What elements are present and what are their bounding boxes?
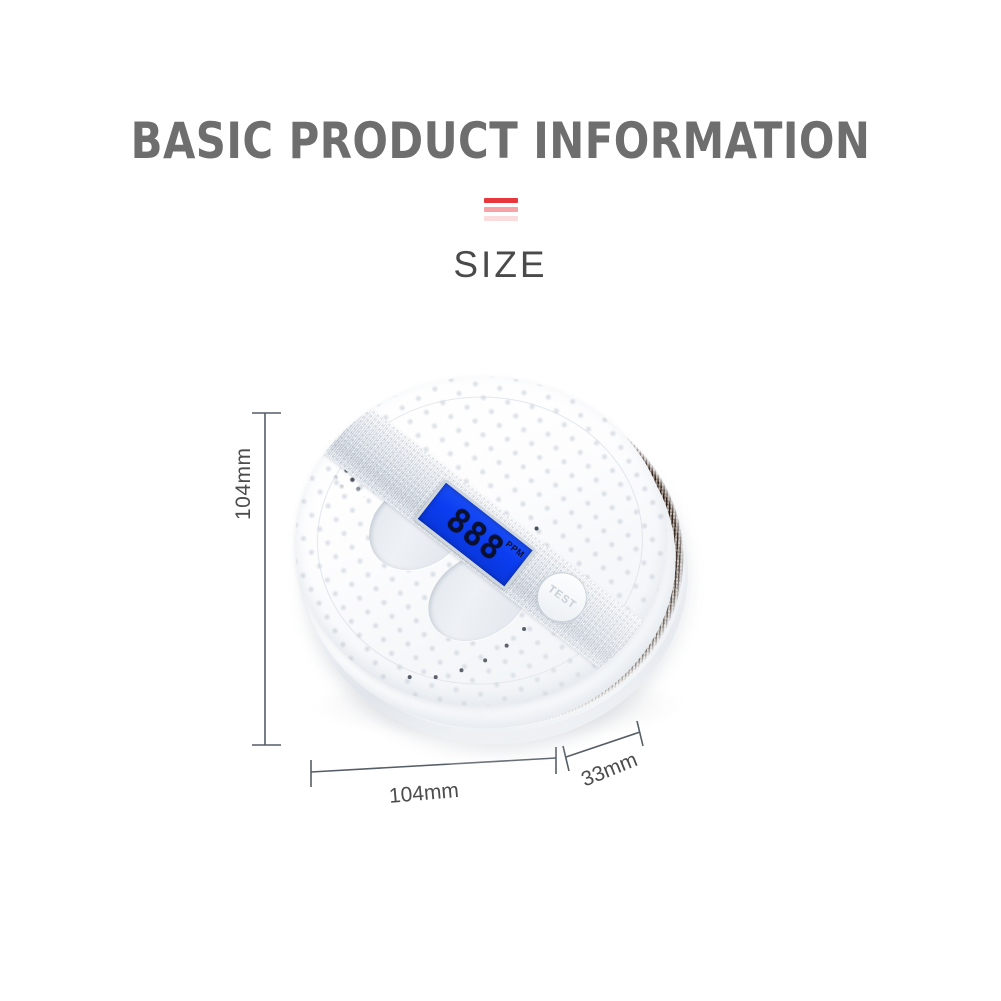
divider-bar-tertiary: [484, 216, 518, 221]
test-button-label: TEST: [545, 583, 578, 612]
lcd-unit-label: PPM: [504, 539, 527, 560]
height-dimension-label: 104mm: [232, 447, 256, 520]
device-face-plate: 888 PPM TEST: [289, 370, 672, 713]
triple-bar-divider-icon: [484, 198, 518, 221]
page-title: BASIC PRODUCT INFORMATION: [35, 0, 966, 170]
page-header: BASIC PRODUCT INFORMATION SIZE: [0, 0, 1001, 287]
divider-bar-primary: [484, 198, 518, 203]
product-size-diagram: 104mm 104mm 33mm: [0, 360, 1001, 830]
section-subtitle: SIZE: [0, 243, 1001, 287]
device-body: 888 PPM TEST: [289, 363, 703, 777]
product-image-smoke-detector: 888 PPM TEST: [296, 370, 696, 770]
divider-bar-secondary: [484, 207, 518, 212]
width-dimension-label: 104mm: [388, 779, 460, 809]
